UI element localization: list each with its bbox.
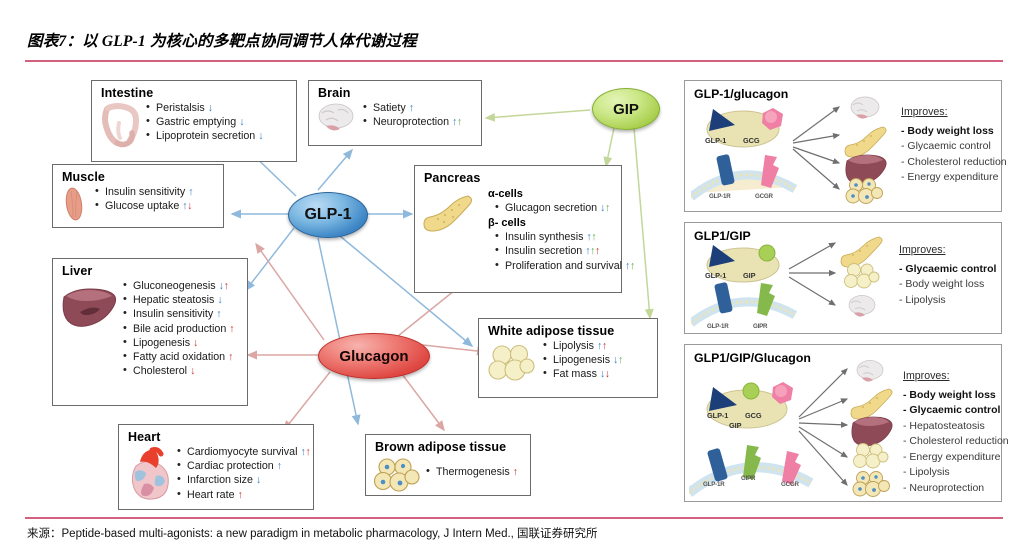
list-item: Insulin sensitivity↑ — [94, 185, 193, 199]
list-item: Fatty acid oxidation↑ — [122, 350, 234, 364]
hub-node-gip[interactable]: GIP — [592, 88, 660, 130]
list-item: Lipogenesis↓ — [122, 336, 234, 350]
ligand-label-gcg: GCG — [745, 411, 762, 420]
list-item: Satiety↑ — [362, 101, 462, 115]
pancreas-icon — [845, 127, 886, 157]
improves-item: - Hepatosteatosis — [903, 419, 1009, 435]
arrow-indicator: ↑ — [277, 460, 282, 472]
organ-box-muscle: Muscle Insulin sensitivity↑ Glucose upta… — [52, 164, 224, 228]
list-item: Lipogenesis↓↑ — [542, 353, 623, 367]
improves-heading: Improves: — [901, 105, 1007, 121]
improves-item: - Glycaemic control — [903, 403, 1009, 419]
arrow-indicator: ↑↑ — [586, 231, 596, 243]
list-item: Glucose uptake↑↓ — [94, 199, 193, 213]
pancreas-beta-head: β- cells — [488, 216, 635, 230]
list-item: Neuroprotection↑↑ — [362, 115, 462, 129]
list-item: Insulin synthesis↑↑ — [494, 230, 635, 244]
receptor-label-glp1r: GLP-1R — [707, 323, 729, 330]
panel-target-arrows — [789, 97, 849, 207]
arrow-indicator: ↓ — [208, 102, 213, 114]
organ-title: Pancreas — [424, 171, 614, 185]
arrow-indicator: ↑ — [229, 323, 234, 335]
ligand-label-gip: GIP — [743, 271, 755, 280]
list-item: Thermogenesis↑ — [425, 465, 518, 479]
list-item: Heart rate↑ — [176, 488, 310, 502]
brain-icon — [316, 101, 358, 137]
receptor-label-glp1r: GLP-1R — [703, 481, 725, 488]
list-item: Cholesterol↓ — [122, 364, 234, 378]
organ-box-liver: Liver Gluconeogenesis↓↑ Hepatic steatosi… — [52, 258, 248, 406]
arrow-indicator: ↓ — [239, 116, 244, 128]
organ-item-list: Lipolysis↑↑ Lipogenesis↓↑ Fat mass↓↓ — [542, 339, 623, 382]
hub-label: GIP — [613, 101, 639, 118]
list-item: Lipoprotein secretion↓ — [145, 129, 263, 143]
arrow-indicator: ↓ — [258, 130, 263, 142]
list-item: Cardiomyocyte survival↑↑ — [176, 445, 310, 459]
arrow-indicator: ↓ — [217, 294, 222, 306]
white-adipose-icon — [854, 444, 889, 469]
improves-item: - Body weight loss — [901, 124, 1007, 140]
improves-heading: Improves: — [899, 243, 996, 259]
figure-page: 图表7：以 GLP-1 为核心的多靶点协同调节人体代谢过程 来源：Peptide… — [0, 0, 1015, 558]
improves-item: - Glycaemic control — [899, 262, 996, 278]
arrow-indicator: ↑↑ — [597, 340, 607, 352]
intestine-icon — [99, 101, 141, 153]
arrow-indicator: ↑↑ — [452, 116, 462, 128]
arrow-indicator: ↑ — [188, 186, 193, 198]
list-item: Fat mass↓↓ — [542, 367, 623, 381]
list-item: Lipolysis↑↑ — [542, 339, 623, 353]
receptor-label-gipr: GIPR — [741, 475, 755, 482]
white-adipose-icon — [486, 341, 538, 387]
ligand-label-gcg: GCG — [743, 136, 760, 145]
improves-item: - Cholesterol reduction — [903, 434, 1009, 450]
arrow-indicator: ↑ — [228, 351, 233, 363]
improves-item: - Glycaemic control — [901, 139, 1007, 155]
list-item: Glucagon secretion↓↑ — [494, 201, 635, 215]
organ-item-list: Thermogenesis↑ — [425, 465, 518, 479]
organ-item-list: Peristalsis↓ Gastric emptying↓ Lipoprote… — [145, 101, 263, 144]
improves-list: Improves: - Body weight loss - Glycaemic… — [903, 369, 1009, 496]
liver-icon — [852, 417, 892, 446]
list-item: Insulin secretion↑↑↑ — [494, 244, 635, 258]
pancreas-alpha-head: α-cells — [488, 187, 635, 201]
list-item: Bile acid production↑ — [122, 322, 234, 336]
heart-icon — [126, 446, 172, 502]
organ-item-list: Insulin synthesis↑↑ Insulin secretion↑↑↑… — [494, 230, 635, 273]
organ-title: Brown adipose tissue — [375, 440, 523, 454]
organ-box-intestine: Intestine Peristalsis↓ Gastric emptying↓… — [91, 80, 297, 162]
brown-adipose-icon — [373, 456, 421, 496]
panel-target-arrows — [785, 235, 845, 331]
improves-list: Improves: - Body weight loss - Glycaemic… — [901, 105, 1007, 186]
white-adipose-icon — [845, 264, 880, 289]
organ-item-list: Insulin sensitivity↑ Glucose uptake↑↓ — [94, 185, 193, 213]
organ-item-list: Satiety↑ Neuroprotection↑↑ — [362, 101, 462, 129]
ligand-label-glp1: GLP-1 — [705, 271, 726, 280]
pancreas-icon — [851, 389, 892, 419]
source-note: 来源：Peptide-based multi-agonists: a new p… — [27, 525, 598, 541]
panel-target-icons — [849, 359, 895, 501]
organ-title: Muscle — [62, 170, 216, 184]
list-item: Insulin sensitivity↑ — [122, 307, 234, 321]
organ-title: White adipose tissue — [488, 324, 650, 338]
hub-label: GLP-1 — [304, 206, 351, 224]
improves-item: - Energy expenditure — [901, 170, 1007, 186]
receptor-label-gipr: GIPR — [753, 323, 767, 330]
arrow-indicator: ↑↓ — [182, 200, 192, 212]
arrow-indicator: ↑↑↑ — [585, 245, 600, 257]
pancreas-icon — [422, 190, 480, 234]
receptor-label-gcgr: GCGR — [755, 193, 773, 200]
organ-box-pancreas: Pancreas α-cells Glucagon secretion↓↑ β-… — [414, 165, 622, 293]
brain-icon — [849, 296, 875, 317]
arrow-indicator: ↓ — [190, 365, 195, 377]
arrow-indicator: ↓ — [193, 337, 198, 349]
organ-box-brain: Brain Satiety↑ Neuroprotection↑↑ — [308, 80, 482, 146]
arrow-indicator: ↓↑ — [600, 202, 610, 214]
improves-heading: Improves: — [903, 369, 1009, 385]
receptor-label-glp1r: GLP-1R — [709, 193, 731, 200]
divider-top — [25, 60, 1003, 62]
liver-icon — [60, 283, 118, 333]
divider-bottom — [25, 517, 1003, 519]
arrow-indicator: ↓↑ — [219, 280, 229, 292]
improves-item: - Lipolysis — [899, 293, 996, 309]
panel-title: GLP-1/glucagon — [694, 87, 788, 101]
ligand-label-glp1: GLP-1 — [707, 411, 728, 420]
organ-title: Heart — [128, 430, 306, 444]
arrow-indicator: ↑↑ — [300, 446, 310, 458]
arrow-indicator: ↑↑ — [625, 260, 635, 272]
arrow-indicator: ↑ — [409, 102, 414, 114]
arrow-indicator: ↓ — [256, 474, 261, 486]
improves-item: - Cholesterol reduction — [901, 155, 1007, 171]
ligand-label-glp1: GLP-1 — [705, 136, 726, 145]
list-item: Cardiac protection↑ — [176, 459, 310, 473]
list-item: Gluconeogenesis↓↑ — [122, 279, 234, 293]
arrow-indicator: ↓↓ — [600, 368, 610, 380]
brain-icon — [851, 97, 879, 119]
brain-icon — [857, 361, 883, 382]
improves-list: Improves: - Glycaemic control - Body wei… — [899, 243, 996, 308]
organ-box-white-adipose: White adipose tissue Lipolysis↑↑ Lipogen… — [478, 318, 658, 398]
brown-adipose-icon — [853, 472, 890, 497]
organ-title: Liver — [62, 264, 240, 278]
list-item: Infarction size↓ — [176, 473, 310, 487]
arrow-indicator: ↑ — [238, 489, 243, 501]
mechanism-panel-glp1-gip-glucagon: GLP1/GIP/Glucagon GLP-1 GCG GIP GLP-1R G… — [684, 344, 1002, 502]
list-item: Gastric emptying↓ — [145, 115, 263, 129]
ligand-label-gip: GIP — [729, 421, 741, 430]
page-title: 图表7：以 GLP-1 为核心的多靶点协同调节人体代谢过程 — [27, 29, 417, 51]
panel-target-icons — [843, 95, 889, 207]
organ-box-brown-adipose: Brown adipose tissue Thermogenesis↑ — [365, 434, 531, 496]
mechanism-panel-glp1-gip: GLP1/GIP GLP-1 GIP GLP-1R GIPR — [684, 222, 1002, 334]
brown-adipose-icon — [846, 179, 883, 204]
arrow-indicator: ↑ — [513, 466, 518, 478]
improves-item: - Body weight loss — [903, 388, 1009, 404]
mechanism-panel-glp1-glucagon: GLP-1/glucagon GLP-1 GCG GLP-1R GCGR — [684, 80, 1002, 212]
organ-title: Brain — [318, 86, 474, 100]
list-item: Proliferation and survival↑↑ — [494, 259, 635, 273]
hub-node-glucagon[interactable]: Glucagon — [318, 333, 430, 379]
list-item: Peristalsis↓ — [145, 101, 263, 115]
hub-label: Glucagon — [339, 348, 408, 365]
pancreas-icon — [841, 237, 882, 267]
improves-item: - Lipolysis — [903, 465, 1009, 481]
hub-node-glp1[interactable]: GLP-1 — [288, 192, 368, 238]
improves-item: - Energy expenditure — [903, 450, 1009, 466]
arrow-indicator: ↑ — [216, 308, 221, 320]
muscle-icon — [60, 185, 90, 223]
organ-box-heart: Heart Cardiomyocyte survival↑↑ Cardiac p… — [118, 424, 314, 510]
arrow-indicator: ↓↑ — [613, 354, 623, 366]
organ-item-list: Gluconeogenesis↓↑ Hepatic steatosis↓ Ins… — [122, 279, 234, 378]
panel-target-icons — [839, 233, 885, 325]
organ-item-list: Cardiomyocyte survival↑↑ Cardiac protect… — [176, 445, 310, 502]
panel-title: GLP1/GIP/Glucagon — [694, 351, 811, 365]
organ-item-list: Glucagon secretion↓↑ — [494, 201, 635, 215]
list-item: Hepatic steatosis↓ — [122, 293, 234, 307]
panel-target-arrows — [795, 361, 857, 501]
organ-title: Intestine — [101, 86, 289, 100]
improves-item: - Body weight loss — [899, 277, 996, 293]
improves-item: - Neuroprotection — [903, 481, 1009, 497]
